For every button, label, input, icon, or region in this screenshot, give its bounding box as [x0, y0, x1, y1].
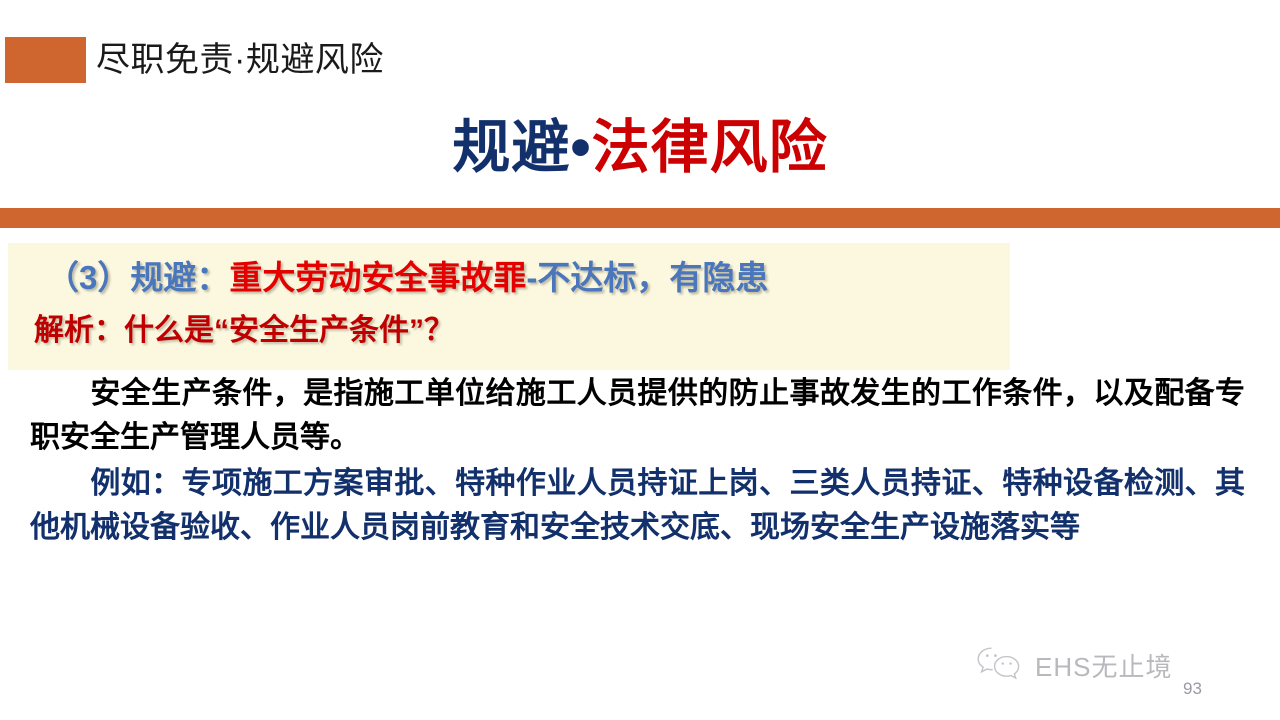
divider-bar [0, 208, 1280, 228]
body-paragraph-black-text: 安全生产条件，是指施工单位给施工人员提供的防止事故发生的工作条件，以及配备专职安… [30, 377, 1245, 454]
page-title: 规避•法律风险 [0, 108, 1280, 188]
page-number: 93 [1183, 679, 1202, 699]
highlight-heading-line-1: （3）规避：重大劳动安全事故罪-不达标，有隐患 [46, 256, 768, 300]
watermark: EHS无止境 [975, 645, 1172, 688]
page-title-blue-part: 规避• [452, 115, 591, 180]
watermark-label: EHS无止境 [1035, 652, 1172, 682]
slide: 尽职免责·规避风险 规避•法律风险 （3）规避：重大劳动安全事故罪-不达标，有隐… [0, 0, 1280, 720]
body-paragraph-blue: 例如：专项施工方案审批、特种作业人员持证上岗、三类人员持证、特种设备检测、其他机… [30, 462, 1245, 550]
body-paragraph-black: 安全生产条件，是指施工单位给施工人员提供的防止事故发生的工作条件，以及配备专职安… [30, 372, 1245, 460]
highlight-heading-line-2: 解析：什么是“安全生产条件”？ [34, 310, 454, 352]
header-accent-block [5, 37, 86, 83]
highlight-heading-suffix: -不达标，有隐患 [526, 259, 768, 296]
highlight-heading-prefix: （3）规避： [46, 259, 229, 296]
highlight-heading-crime: 重大劳动安全事故罪 [229, 259, 526, 296]
wechat-icon [975, 645, 1027, 688]
page-title-red-part: 法律风险 [592, 115, 828, 180]
header-title: 尽职免责·规避风险 [96, 36, 384, 84]
body-paragraph-blue-text: 例如：专项施工方案审批、特种作业人员持证上岗、三类人员持证、特种设备检测、其他机… [30, 467, 1245, 544]
